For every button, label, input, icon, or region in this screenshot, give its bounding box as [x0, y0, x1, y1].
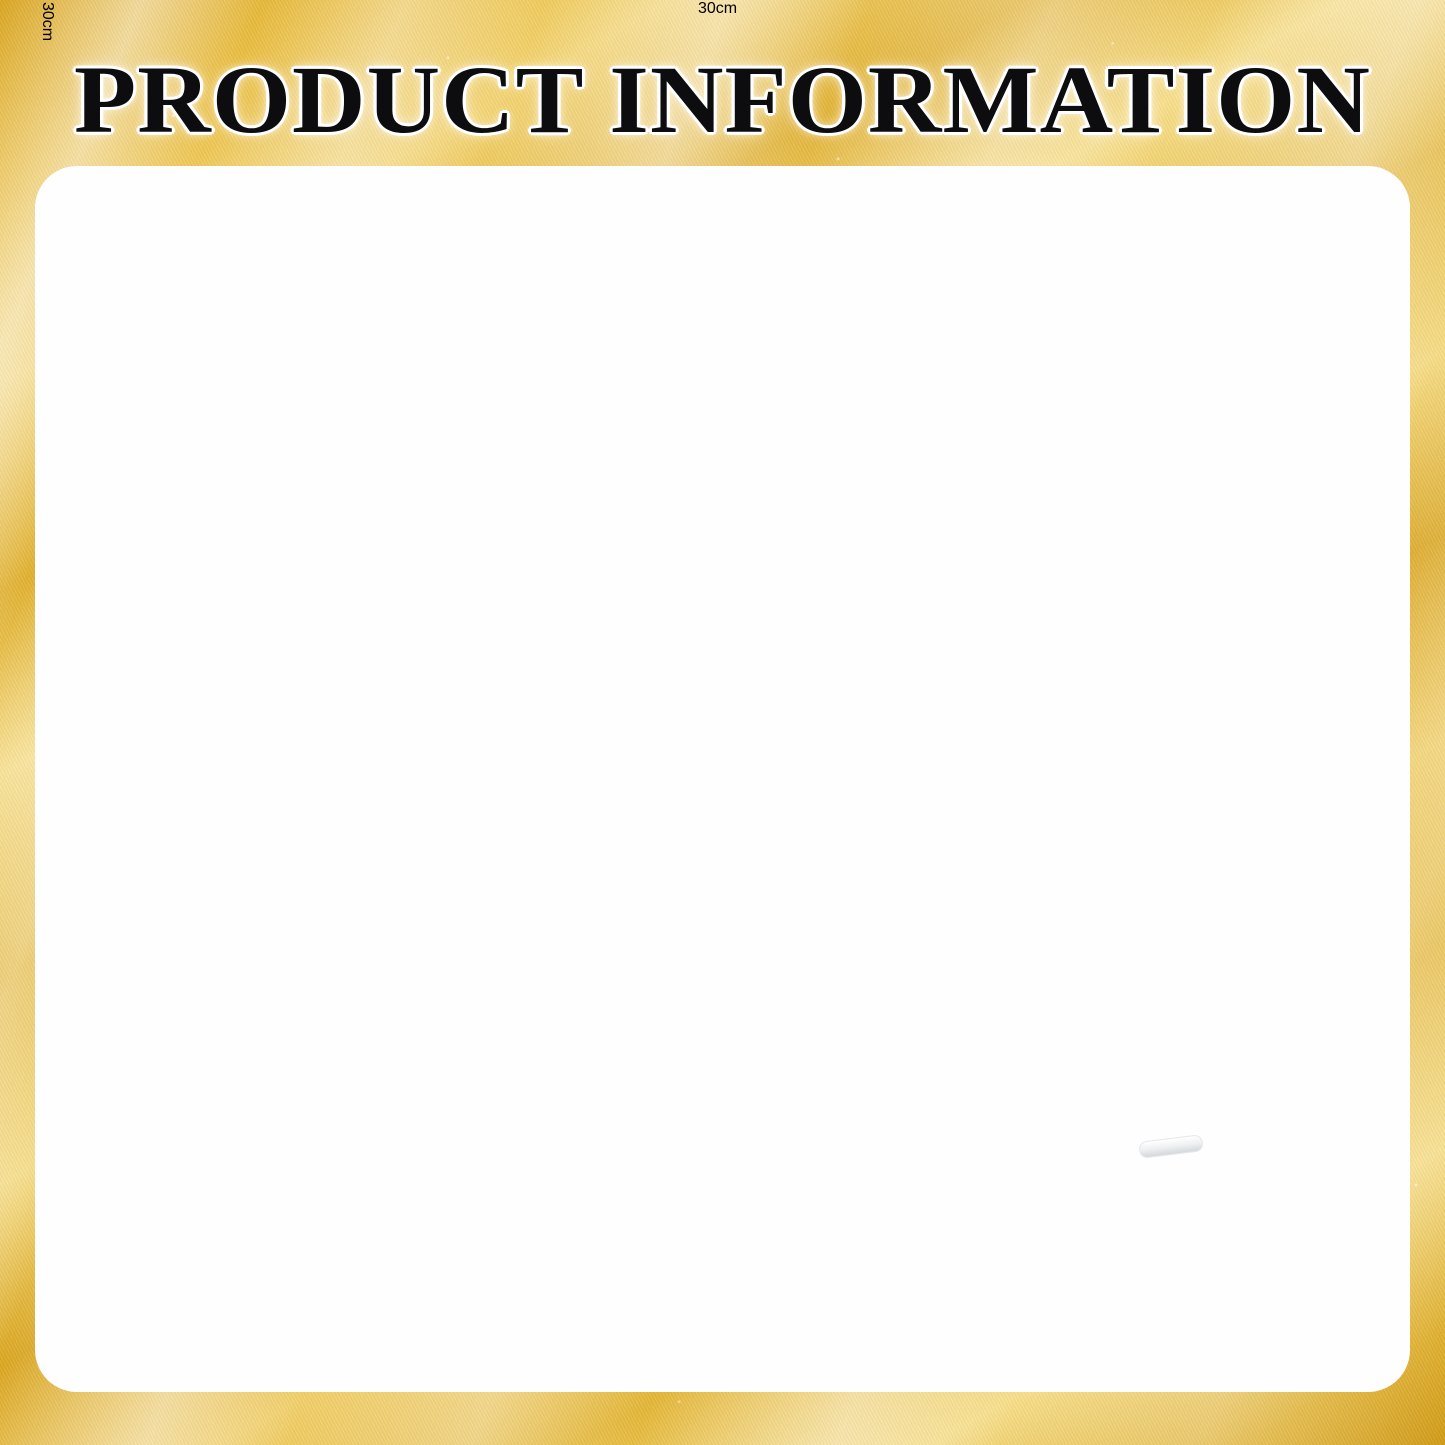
page-title: PRODUCT INFORMATION [0, 44, 1445, 155]
width-dimension-value: 30cm [698, 0, 737, 17]
width-dimension-label: 30cm [0, 0, 1445, 18]
content-card [35, 166, 1410, 1392]
height-dimension-value: 30cm [39, 2, 56, 41]
product-information-poster: PRODUCT INFORMATION 30cm 30cm 12PCS Spar… [0, 0, 1445, 1445]
